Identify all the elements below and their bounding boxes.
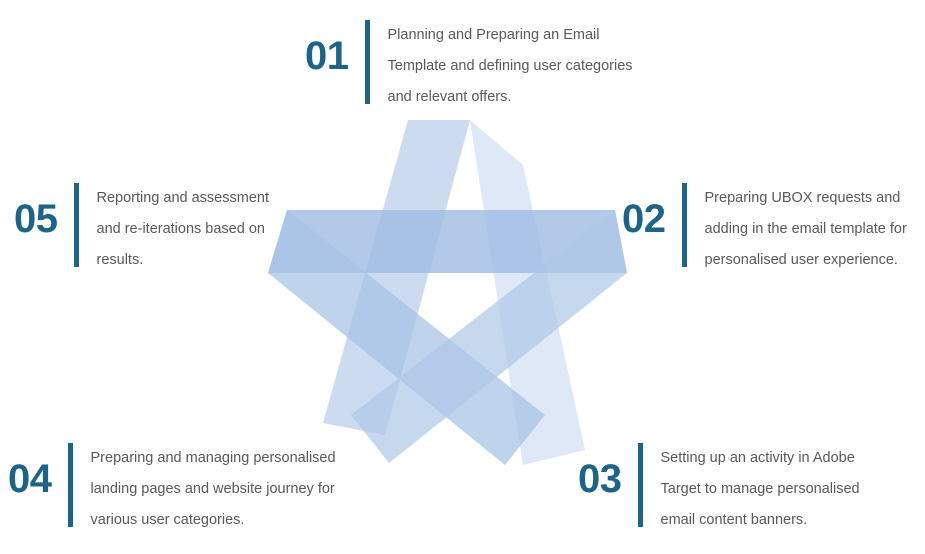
step-number-05: 05 bbox=[14, 183, 58, 239]
step-text-line: landing pages and website journey for bbox=[91, 474, 336, 505]
step-text-line: and re-iterations based on bbox=[97, 214, 270, 245]
step-text-line: Setting up an activity in Adobe bbox=[661, 443, 860, 474]
step-divider-03 bbox=[638, 443, 643, 527]
step-text-line: personalised user experience. bbox=[705, 245, 907, 276]
step-text-line: results. bbox=[97, 245, 270, 276]
step-text-line: Template and defining user categories bbox=[388, 51, 633, 82]
step-text-03: Setting up an activity in Adobe Target t… bbox=[661, 443, 860, 536]
step-text-01: Planning and Preparing an Email Template… bbox=[388, 20, 633, 113]
step-item-04: 04 Preparing and managing personalised l… bbox=[8, 443, 336, 536]
step-item-02: 02 Preparing UBOX requests and adding in… bbox=[622, 183, 907, 276]
step-text-line: Target to manage personalised bbox=[661, 474, 860, 505]
step-item-03: 03 Setting up an activity in Adobe Targe… bbox=[578, 443, 860, 536]
step-number-02: 02 bbox=[622, 183, 666, 239]
step-number-04: 04 bbox=[8, 443, 52, 499]
step-text-02: Preparing UBOX requests and adding in th… bbox=[705, 183, 907, 276]
step-text-line: Reporting and assessment bbox=[97, 183, 270, 214]
step-text-line: and relevant offers. bbox=[388, 82, 633, 113]
step-text-line: various user categories. bbox=[91, 505, 336, 536]
step-text-05: Reporting and assessment and re-iteratio… bbox=[97, 183, 270, 276]
step-divider-01 bbox=[365, 20, 370, 104]
step-item-01: 01 Planning and Preparing an Email Templ… bbox=[305, 20, 633, 113]
step-text-line: Preparing and managing personalised bbox=[91, 443, 336, 474]
step-divider-02 bbox=[682, 183, 687, 267]
step-text-line: email content banners. bbox=[661, 505, 860, 536]
step-text-04: Preparing and managing personalised land… bbox=[91, 443, 336, 536]
step-number-01: 01 bbox=[305, 20, 349, 76]
step-text-line: Preparing UBOX requests and bbox=[705, 183, 907, 214]
infographic-canvas: 01 Planning and Preparing an Email Templ… bbox=[0, 0, 925, 554]
step-text-line: adding in the email template for bbox=[705, 214, 907, 245]
step-divider-04 bbox=[68, 443, 73, 527]
step-number-03: 03 bbox=[578, 443, 622, 499]
pentagram-star-graphic bbox=[255, 105, 645, 480]
step-divider-05 bbox=[74, 183, 79, 267]
step-item-05: 05 Reporting and assessment and re-itera… bbox=[14, 183, 269, 276]
step-text-line: Planning and Preparing an Email bbox=[388, 20, 633, 51]
